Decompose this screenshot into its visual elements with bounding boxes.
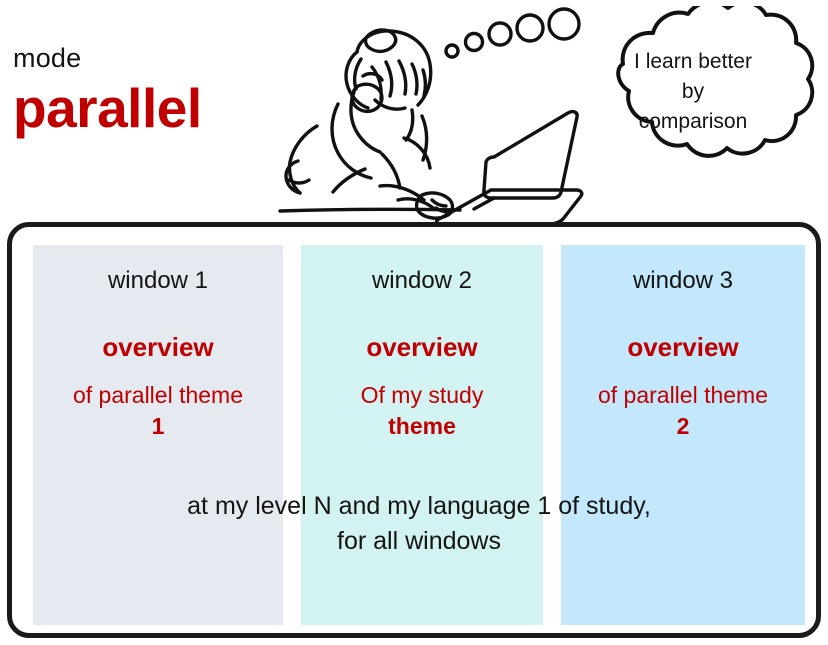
window-title: window 1 <box>33 267 283 296</box>
window-subtitle: Of my study theme <box>301 380 543 442</box>
window-overview-label: overview <box>33 332 283 363</box>
window-column-1[interactable]: window 1 overview of parallel theme 1 <box>33 245 283 625</box>
window-title: window 2 <box>301 267 543 296</box>
window-overview-label: overview <box>301 332 543 363</box>
header-section: mode parallel <box>0 0 828 222</box>
thought-bubble: I learn better by comparison <box>560 6 826 174</box>
window-subtitle-prefix: Of my study <box>361 382 484 408</box>
mode-value: parallel <box>13 80 202 138</box>
mode-label: mode <box>13 45 81 72</box>
window-columns: window 1 overview of parallel theme 1 wi… <box>33 245 805 625</box>
window-subtitle-emphasis: theme <box>305 411 539 442</box>
window-overview-label: overview <box>561 332 805 363</box>
window-column-2[interactable]: window 2 overview Of my study theme <box>301 245 543 625</box>
window-title: window 3 <box>561 267 805 296</box>
window-subtitle-prefix: of parallel theme <box>73 382 243 408</box>
window-subtitle: of parallel theme 2 <box>561 380 805 442</box>
window-subtitle-prefix: of parallel theme <box>598 382 768 408</box>
window-subtitle: of parallel theme 1 <box>33 380 283 442</box>
window-column-3[interactable]: window 3 overview of parallel theme 2 <box>561 245 805 625</box>
windows-panel: window 1 overview of parallel theme 1 wi… <box>7 222 821 638</box>
window-subtitle-emphasis: 1 <box>37 411 279 442</box>
person-studying-at-laptop-illustration <box>262 4 602 222</box>
window-subtitle-emphasis: 2 <box>565 411 801 442</box>
